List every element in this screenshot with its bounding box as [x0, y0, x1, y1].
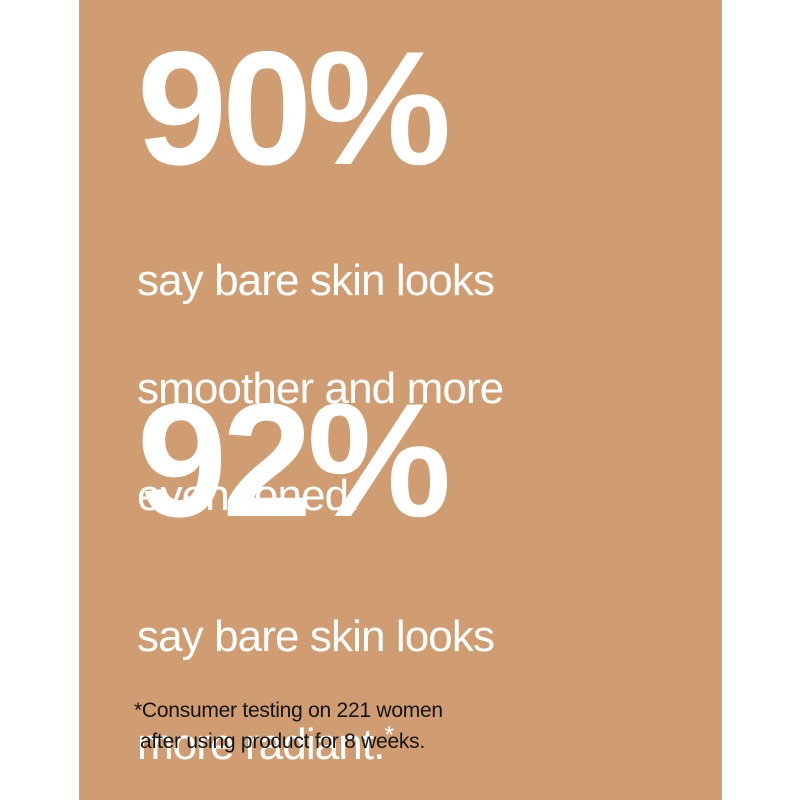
marketing-claim-poster: 90% say bare skin looks smoother and mor… — [0, 0, 800, 800]
stat-caption-90-line-1: say bare skin looks — [137, 254, 702, 308]
stat-number-90: 90% — [137, 34, 702, 185]
tan-background-panel: 90% say bare skin looks smoother and mor… — [79, 0, 722, 800]
footnote-line-2: after using product for 8 weeks. — [134, 726, 443, 757]
stat-caption-92-line-1: say bare skin looks — [137, 610, 702, 664]
stat-number-92: 92% — [137, 386, 702, 537]
footnote-disclaimer: *Consumer testing on 221 women after usi… — [134, 695, 443, 757]
footnote-line-1: *Consumer testing on 221 women — [134, 695, 443, 726]
stat-caption-92: say bare skin looks more radiant.* — [137, 557, 702, 800]
